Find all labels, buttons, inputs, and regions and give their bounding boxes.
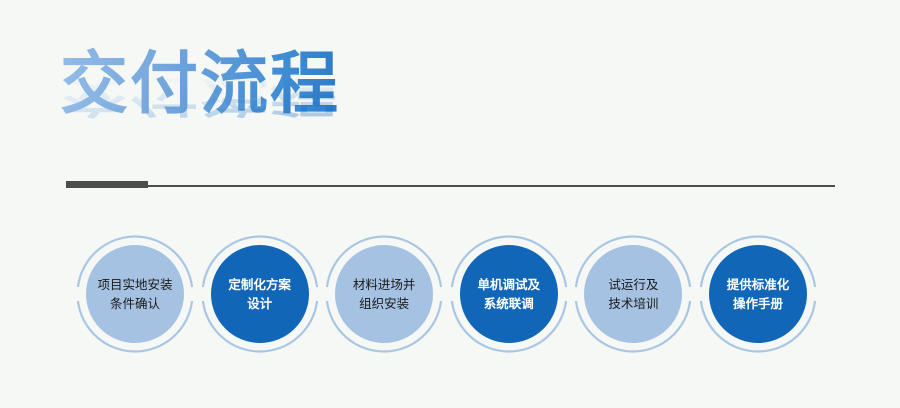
step-disc-5[interactable]: 试运行及技术培训 xyxy=(584,245,682,343)
step-disc-4[interactable]: 单机调试及系统联调 xyxy=(460,245,558,343)
page-title-block: 交付流程 交付流程 xyxy=(60,46,480,166)
step-label-line2-3: 组织安装 xyxy=(359,294,409,313)
divider-line xyxy=(66,185,835,187)
step-disc-3[interactable]: 材料进场并组织安装 xyxy=(335,245,433,343)
step-label-line1-6: 提供标准化 xyxy=(727,275,790,294)
process-step-6[interactable]: 提供标准化操作手册 xyxy=(693,228,823,360)
step-disc-2[interactable]: 定制化方案设计 xyxy=(211,245,309,343)
process-step-5[interactable]: 试运行及技术培训 xyxy=(568,228,698,360)
step-label-line2-1: 条件确认 xyxy=(110,294,160,313)
step-label-line1-5: 试运行及 xyxy=(608,275,658,294)
step-label-line2-5: 技术培训 xyxy=(608,294,658,313)
process-step-1[interactable]: 项目实地安装条件确认 xyxy=(70,228,200,360)
page-title: 交付流程 xyxy=(60,46,480,124)
process-step-3[interactable]: 材料进场并组织安装 xyxy=(319,228,449,360)
step-label-line2-2: 设计 xyxy=(247,294,272,313)
step-label-line1-4: 单机调试及 xyxy=(478,275,541,294)
step-label-line1-2: 定制化方案 xyxy=(228,275,291,294)
delivery-process-flow: 项目实地安装条件确认定制化方案设计材料进场并组织安装单机调试及系统联调试运行及技… xyxy=(0,228,900,363)
step-label-line2-4: 系统联调 xyxy=(484,294,534,313)
slide-canvas: 交付流程 交付流程 项目实地安装条件确认定制化方案设计材料进场并组织安装单机调试… xyxy=(0,0,900,408)
divider-accent-bar xyxy=(66,181,148,188)
step-disc-1[interactable]: 项目实地安装条件确认 xyxy=(86,245,184,343)
step-label-line2-6: 操作手册 xyxy=(733,294,783,313)
step-disc-6[interactable]: 提供标准化操作手册 xyxy=(709,245,807,343)
process-step-4[interactable]: 单机调试及系统联调 xyxy=(444,228,574,360)
step-label-line1-3: 材料进场并 xyxy=(353,275,416,294)
step-label-line1-1: 项目实地安装 xyxy=(97,275,172,294)
process-step-2[interactable]: 定制化方案设计 xyxy=(195,228,325,360)
section-divider xyxy=(66,181,835,188)
